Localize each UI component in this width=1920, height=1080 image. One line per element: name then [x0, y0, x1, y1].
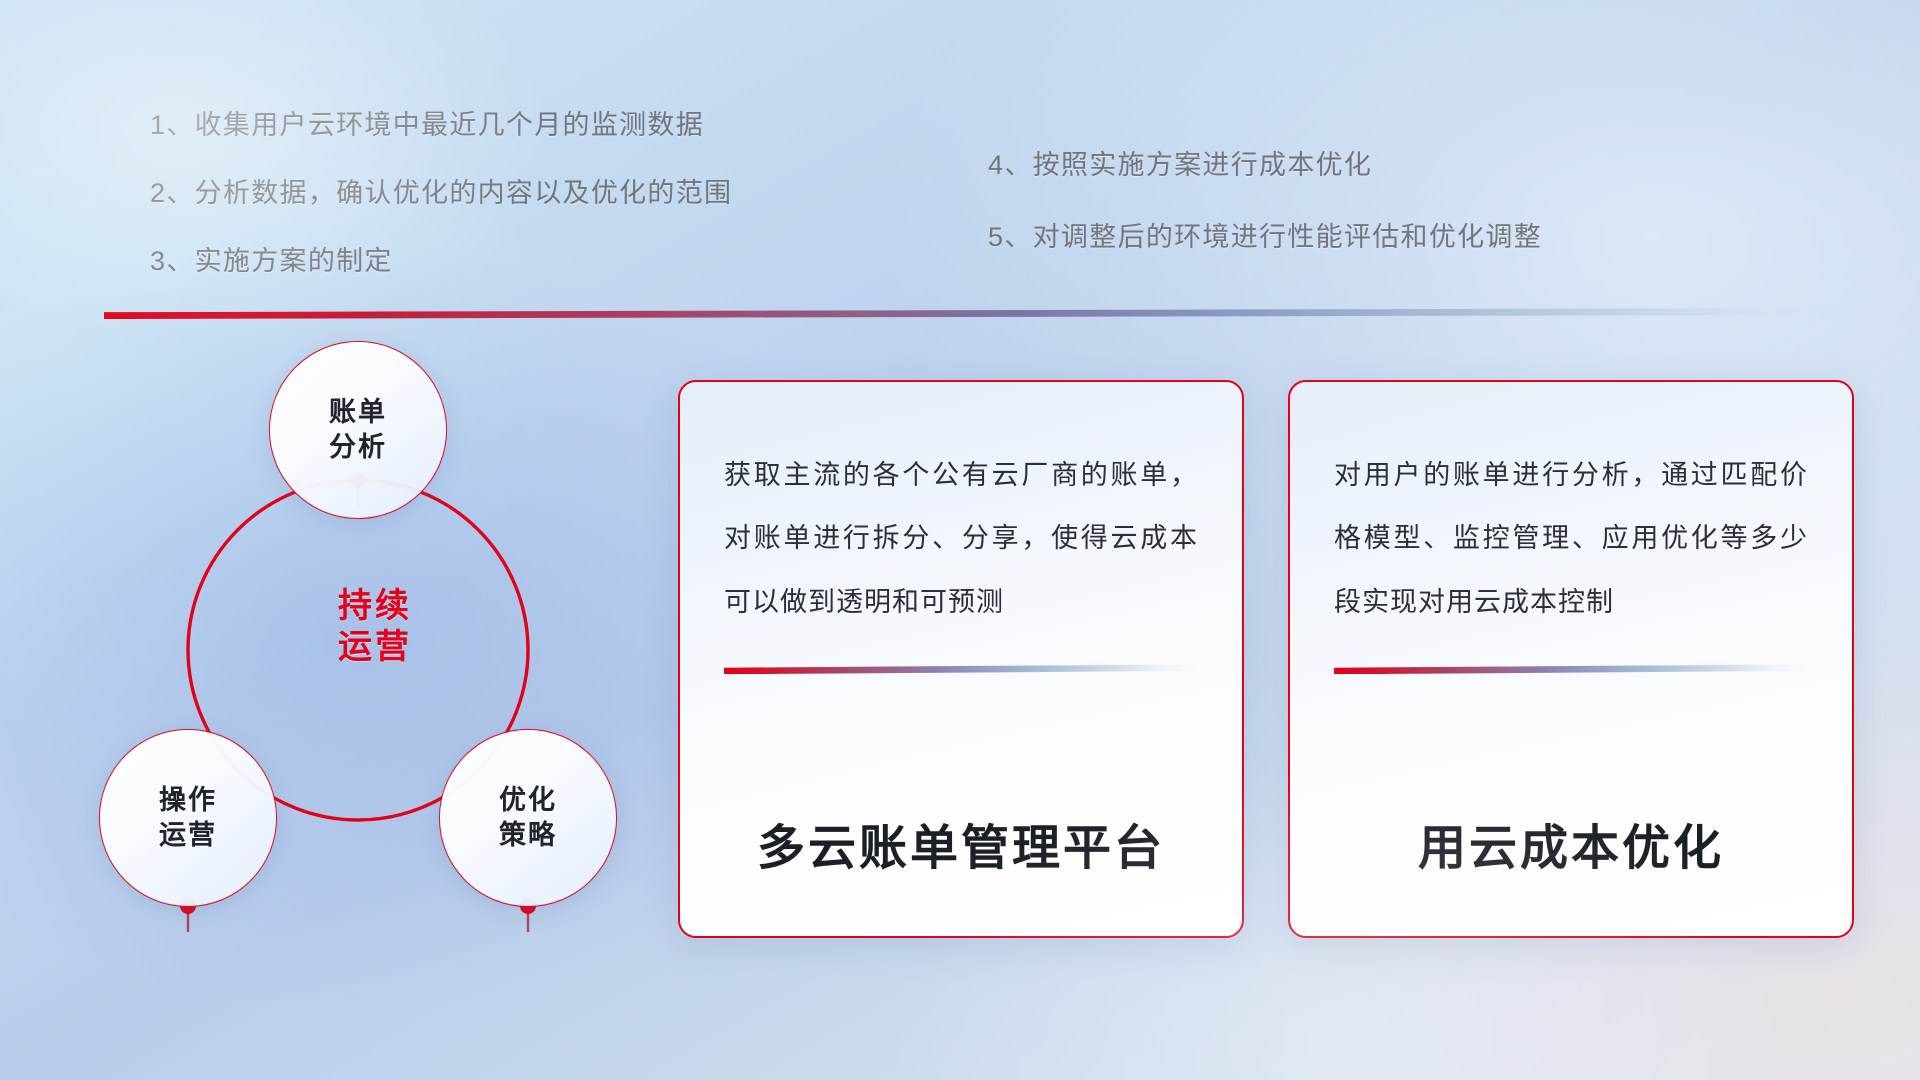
node-label-line-2: 分析: [329, 430, 387, 465]
node-label-line-2: 运营: [159, 818, 217, 853]
diagram-node-operations[interactable]: 操作 运营: [100, 730, 276, 906]
step-item-4: 4、按照实施方案进行成本优化: [988, 152, 1788, 179]
steps-left-column: 1、收集用户云环境中最近几个月的监测数据 2、分析数据，确认优化的内容以及优化的…: [150, 112, 910, 316]
diagram-node-billing-analysis[interactable]: 账单 分析: [270, 342, 446, 518]
center-label-line-2: 运营: [95, 627, 655, 668]
node-label-optimization-strategy: 优化 策略: [499, 783, 557, 852]
card-body-text: 获取主流的各个公有云厂商的账单，对账单进行拆分、分享，使得云成本可以做到透明和可…: [724, 444, 1198, 634]
node-label-line-1: 操作: [159, 783, 217, 818]
node-label-billing-analysis: 账单 分析: [329, 395, 387, 464]
card-title: 多云账单管理平台: [724, 808, 1198, 878]
step-item-3: 3、实施方案的制定: [150, 248, 910, 275]
steps-right-column: 4、按照实施方案进行成本优化 5、对调整后的环境进行性能评估和优化调整: [988, 152, 1788, 296]
center-label-line-1: 持续: [95, 586, 655, 627]
diagram-center-label: 持续 运营: [95, 586, 655, 669]
step-item-1: 1、收集用户云环境中最近几个月的监测数据: [150, 112, 910, 139]
continuous-operation-diagram: 账单 分析 操作 运营 优化 策略 持续 运营: [95, 350, 655, 960]
node-label-operations: 操作 运营: [159, 783, 217, 852]
card-title: 用云成本优化: [1334, 808, 1808, 878]
card-divider-line: [724, 664, 1198, 674]
node-label-line-2: 策略: [499, 818, 557, 853]
step-item-2: 2、分析数据，确认优化的内容以及优化的范围: [150, 180, 910, 207]
card-body-text: 对用户的账单进行分析，通过匹配价格模型、监控管理、应用优化等多少段实现对用云成本…: [1334, 444, 1808, 634]
card-multi-cloud-billing-platform[interactable]: 获取主流的各个公有云厂商的账单，对账单进行拆分、分享，使得云成本可以做到透明和可…: [678, 380, 1244, 938]
step-item-5: 5、对调整后的环境进行性能评估和优化调整: [988, 224, 1788, 251]
diagram-node-optimization-strategy[interactable]: 优化 策略: [440, 730, 616, 906]
node-label-line-1: 账单: [329, 395, 387, 430]
card-cloud-cost-optimization[interactable]: 对用户的账单进行分析，通过匹配价格模型、监控管理、应用优化等多少段实现对用云成本…: [1288, 380, 1854, 938]
slide-canvas: 1、收集用户云环境中最近几个月的监测数据 2、分析数据，确认优化的内容以及优化的…: [0, 0, 1920, 1080]
card-divider-line: [1334, 664, 1808, 674]
node-label-line-1: 优化: [499, 783, 557, 818]
